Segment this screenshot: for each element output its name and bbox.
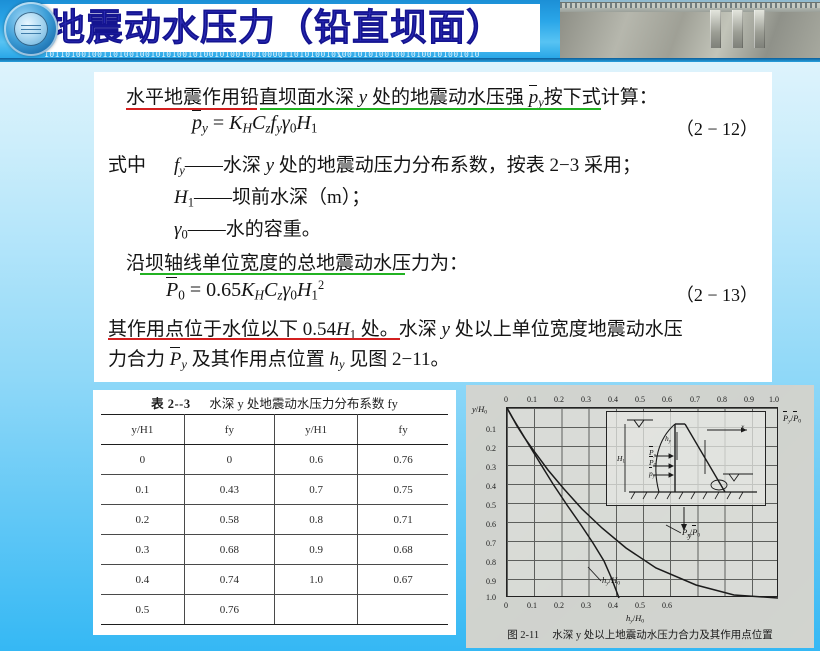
inset-y-arrow (466, 385, 814, 648)
definition-gamma0: γ0——水的容重。 (174, 214, 321, 243)
table-cell-3: 0.76 (358, 445, 448, 475)
table-row: 0.10.430.70.75 (101, 475, 448, 505)
table-cell-0: 0.5 (101, 595, 184, 625)
para-line-4: 力合力 Py 及其作用点位置 hy 见图 2−11。 (108, 344, 450, 373)
para-line-1: 水平地震作用铅直坝面水深 y 处的地震动水压强 py按下式计算： (126, 82, 658, 111)
table-cell-2: 0.6 (274, 445, 357, 475)
definition-H1: H1——坝前水深（m）； (174, 182, 370, 211)
table-cell-3: 0.71 (358, 505, 448, 535)
table-cell-3: 0.67 (358, 565, 448, 595)
seal-inner (14, 12, 48, 46)
content-card: 水平地震作用铅直坝面水深 y 处的地震动水压强 py按下式计算： py = KH… (94, 72, 772, 382)
university-seal-icon (4, 2, 58, 56)
table-cell-3: 0.75 (358, 475, 448, 505)
equation-number-2-13: （2 − 13） (676, 281, 758, 307)
table-cell-1: 0.68 (184, 535, 274, 565)
table-cell-2: 0.7 (274, 475, 357, 505)
table-row: 0.40.741.00.67 (101, 565, 448, 595)
figure-card: 0 0.1 0.2 0.3 0.4 0.5 0.6 0.7 0.8 0.9 1.… (466, 385, 814, 648)
table-caption-number: 表 2--3 (151, 397, 190, 411)
inset-label-y: y (688, 531, 692, 540)
equation-number-2-12: （2 − 12） (676, 115, 758, 141)
table-cell-3 (358, 595, 448, 625)
figure-caption-number: 图 2-11 (507, 630, 539, 641)
dam-photo (560, 0, 820, 60)
where-label: 式中 (108, 150, 146, 177)
figure-caption: 图 2-11 水深 y 处以上地震动水压力合力及其作用点位置 (466, 627, 814, 642)
dam-photo-pier (710, 10, 721, 48)
slide-canvas: 1011010010011010010010101001010010100100… (0, 0, 820, 651)
coefficient-table: y/H1 fy y/H1 fy 000.60.760.10.430.70.750… (101, 414, 448, 625)
table-cell-2: 1.0 (274, 565, 357, 595)
table-cell-1: 0.74 (184, 565, 274, 595)
col-head-2: y/H1 (274, 415, 357, 445)
dam-photo-pier (754, 10, 765, 48)
dam-photo-crest (560, 2, 820, 12)
table-cell-1: 0.76 (184, 595, 274, 625)
page-title: 地震动水压力（铅直坝面） (48, 4, 504, 51)
table-row: 0.50.76 (101, 595, 448, 625)
table-cell-1: 0.43 (184, 475, 274, 505)
table-cell-3: 0.68 (358, 535, 448, 565)
table-cell-2 (274, 595, 357, 625)
header-divider (0, 58, 820, 62)
dam-photo-pier (732, 10, 743, 48)
table-caption-text: 水深 y 处地震动水压力分布系数 fy (209, 397, 398, 411)
figure-caption-text: 水深 y 处以上地震动水压力合力及其作用点位置 (552, 630, 773, 641)
table-caption: 表 2--3 水深 y 处地震动水压力分布系数 fy (93, 393, 456, 412)
underline-green-2 (140, 273, 405, 275)
col-head-1: fy (184, 415, 274, 445)
table-cell-0: 0.4 (101, 565, 184, 595)
table-cell-1: 0 (184, 445, 274, 475)
table-header-row: y/H1 fy y/H1 fy (101, 415, 448, 445)
slide-header: 1011010010011010010010101001010010100100… (0, 0, 820, 60)
para-line-1-part-b: 铅直坝面水深 y 处的地震动水压强 py (240, 87, 544, 108)
definition-fy: fy——水深 y 处的地震动压力分布系数，按表 2−3 采用； (174, 150, 641, 179)
dam-photo-face (560, 11, 820, 60)
table-cell-1: 0.58 (184, 505, 274, 535)
para-line-1-part-c: 按下式计算： (544, 87, 658, 108)
table-cell-0: 0.3 (101, 535, 184, 565)
table-cell-2: 0.9 (274, 535, 357, 565)
para-line-1-part-a: 水平地震作用 (126, 87, 240, 108)
equation-2-13: P0 = 0.65KHCzγ0H12 (166, 278, 324, 304)
table-body: 000.60.760.10.430.70.750.20.580.80.710.3… (101, 445, 448, 625)
table-cell-2: 0.8 (274, 505, 357, 535)
col-head-3: fy (358, 415, 448, 445)
table-cell-0: 0.1 (101, 475, 184, 505)
underline-green-1 (260, 108, 601, 110)
equation-2-12: py = KHCzfyγ0H1 (192, 112, 317, 137)
coefficient-table-card: 表 2--3 水深 y 处地震动水压力分布系数 fy y/H1 fy y/H1 … (93, 390, 456, 635)
table-row: 0.20.580.80.71 (101, 505, 448, 535)
table-row: 0.30.680.90.68 (101, 535, 448, 565)
table-cell-0: 0.2 (101, 505, 184, 535)
underline-red-2 (108, 338, 400, 340)
table-row: 000.60.76 (101, 445, 448, 475)
table-cell-0: 0 (101, 445, 184, 475)
para-line-2: 沿坝轴线单位宽度的总地震动水压力为： (126, 248, 468, 275)
col-head-0: y/H1 (101, 415, 184, 445)
